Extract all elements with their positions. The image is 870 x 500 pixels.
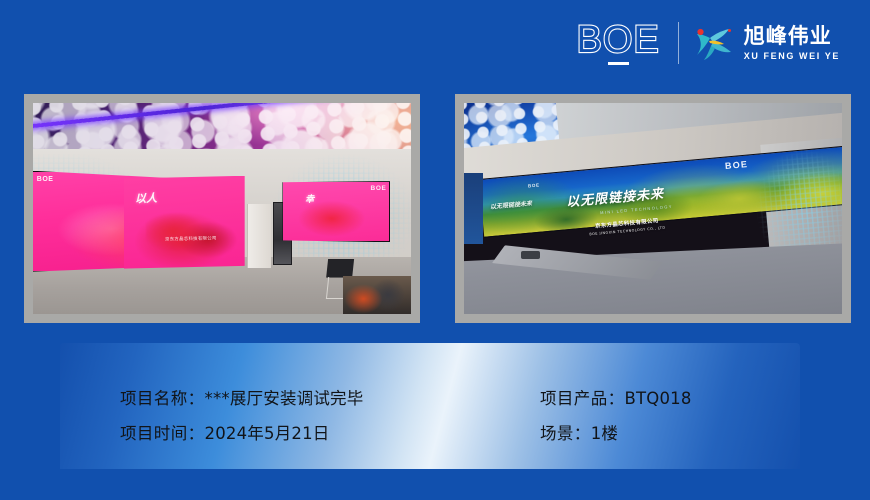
partner-logo: 旭峰伟业 XU FENG WEI YE — [693, 25, 840, 62]
logo-divider — [678, 22, 679, 64]
photo-frame-right[interactable]: 以无限链接未来 以无限链接未来 MINI LED TECHNOLOGY 京东方晶… — [455, 94, 851, 323]
info-label-project-name: 项目名称： — [120, 389, 205, 408]
photo-right: 以无限链接未来 以无限链接未来 MINI LED TECHNOLOGY 京东方晶… — [464, 103, 842, 314]
info-label-scene: 场景： — [540, 424, 591, 443]
led-screen-brand-tag-left: BOE — [37, 176, 54, 183]
corridor-left-edge — [464, 173, 483, 245]
boe-logo: BOE — [577, 21, 678, 65]
partner-name-cn: 旭峰伟业 — [744, 25, 840, 48]
boe-logo-underline — [608, 62, 629, 65]
info-row-scene: 场景：1楼 — [540, 424, 800, 444]
info-row-project-product: 项目产品：BTQ018 — [540, 389, 800, 409]
led-screen-calligraphy-left: 以人 — [135, 189, 158, 206]
info-value-scene: 1楼 — [591, 424, 618, 443]
bottom-strip — [0, 469, 870, 500]
hall-pillar — [247, 204, 272, 267]
partner-name-block: 旭峰伟业 XU FENG WEI YE — [744, 25, 840, 62]
led-screen-brand-tag-right: BOE — [371, 185, 387, 192]
info-value-project-date: 2024年5月21日 — [205, 424, 330, 443]
partner-name-en: XU FENG WEI YE — [744, 50, 840, 62]
butterfly-bird-icon — [693, 25, 735, 61]
led-screen-calligraphy-right: 幸 — [305, 192, 314, 205]
photo-frame-left[interactable]: 以人 京东方晶芯科技有限公司 BOE 幸 BOE — [24, 94, 420, 323]
info-value-project-product: BTQ018 — [625, 389, 692, 408]
hall-equipment — [343, 276, 411, 314]
project-info-grid: 项目名称：***展厅安装调试完毕 项目产品：BTQ018 项目时间：2024年5… — [60, 343, 800, 469]
floor-object — [521, 251, 540, 259]
info-label-project-product: 项目产品： — [540, 389, 625, 408]
info-row-project-name: 项目名称：***展厅安装调试完毕 — [120, 389, 540, 409]
photo-left: 以人 京东方晶芯科技有限公司 BOE 幸 BOE — [33, 103, 411, 314]
slide-canvas: BOE 旭峰伟业 XU FENG WEI YE — [0, 0, 870, 500]
info-label-project-date: 项目时间： — [120, 424, 205, 443]
info-value-project-name: ***展厅安装调试完毕 — [205, 389, 364, 408]
led-wall-brand-tag: BOE — [724, 159, 748, 171]
info-row-project-date: 项目时间：2024年5月21日 — [120, 424, 540, 444]
brand-header: BOE 旭峰伟业 XU FENG WEI YE — [577, 20, 841, 66]
boe-logo-text: BOE — [577, 21, 660, 59]
project-info-panel: 项目名称：***展厅安装调试完毕 项目产品：BTQ018 项目时间：2024年5… — [60, 343, 800, 469]
led-screen-subtext-left: 京东方晶芯科技有限公司 — [165, 235, 217, 242]
